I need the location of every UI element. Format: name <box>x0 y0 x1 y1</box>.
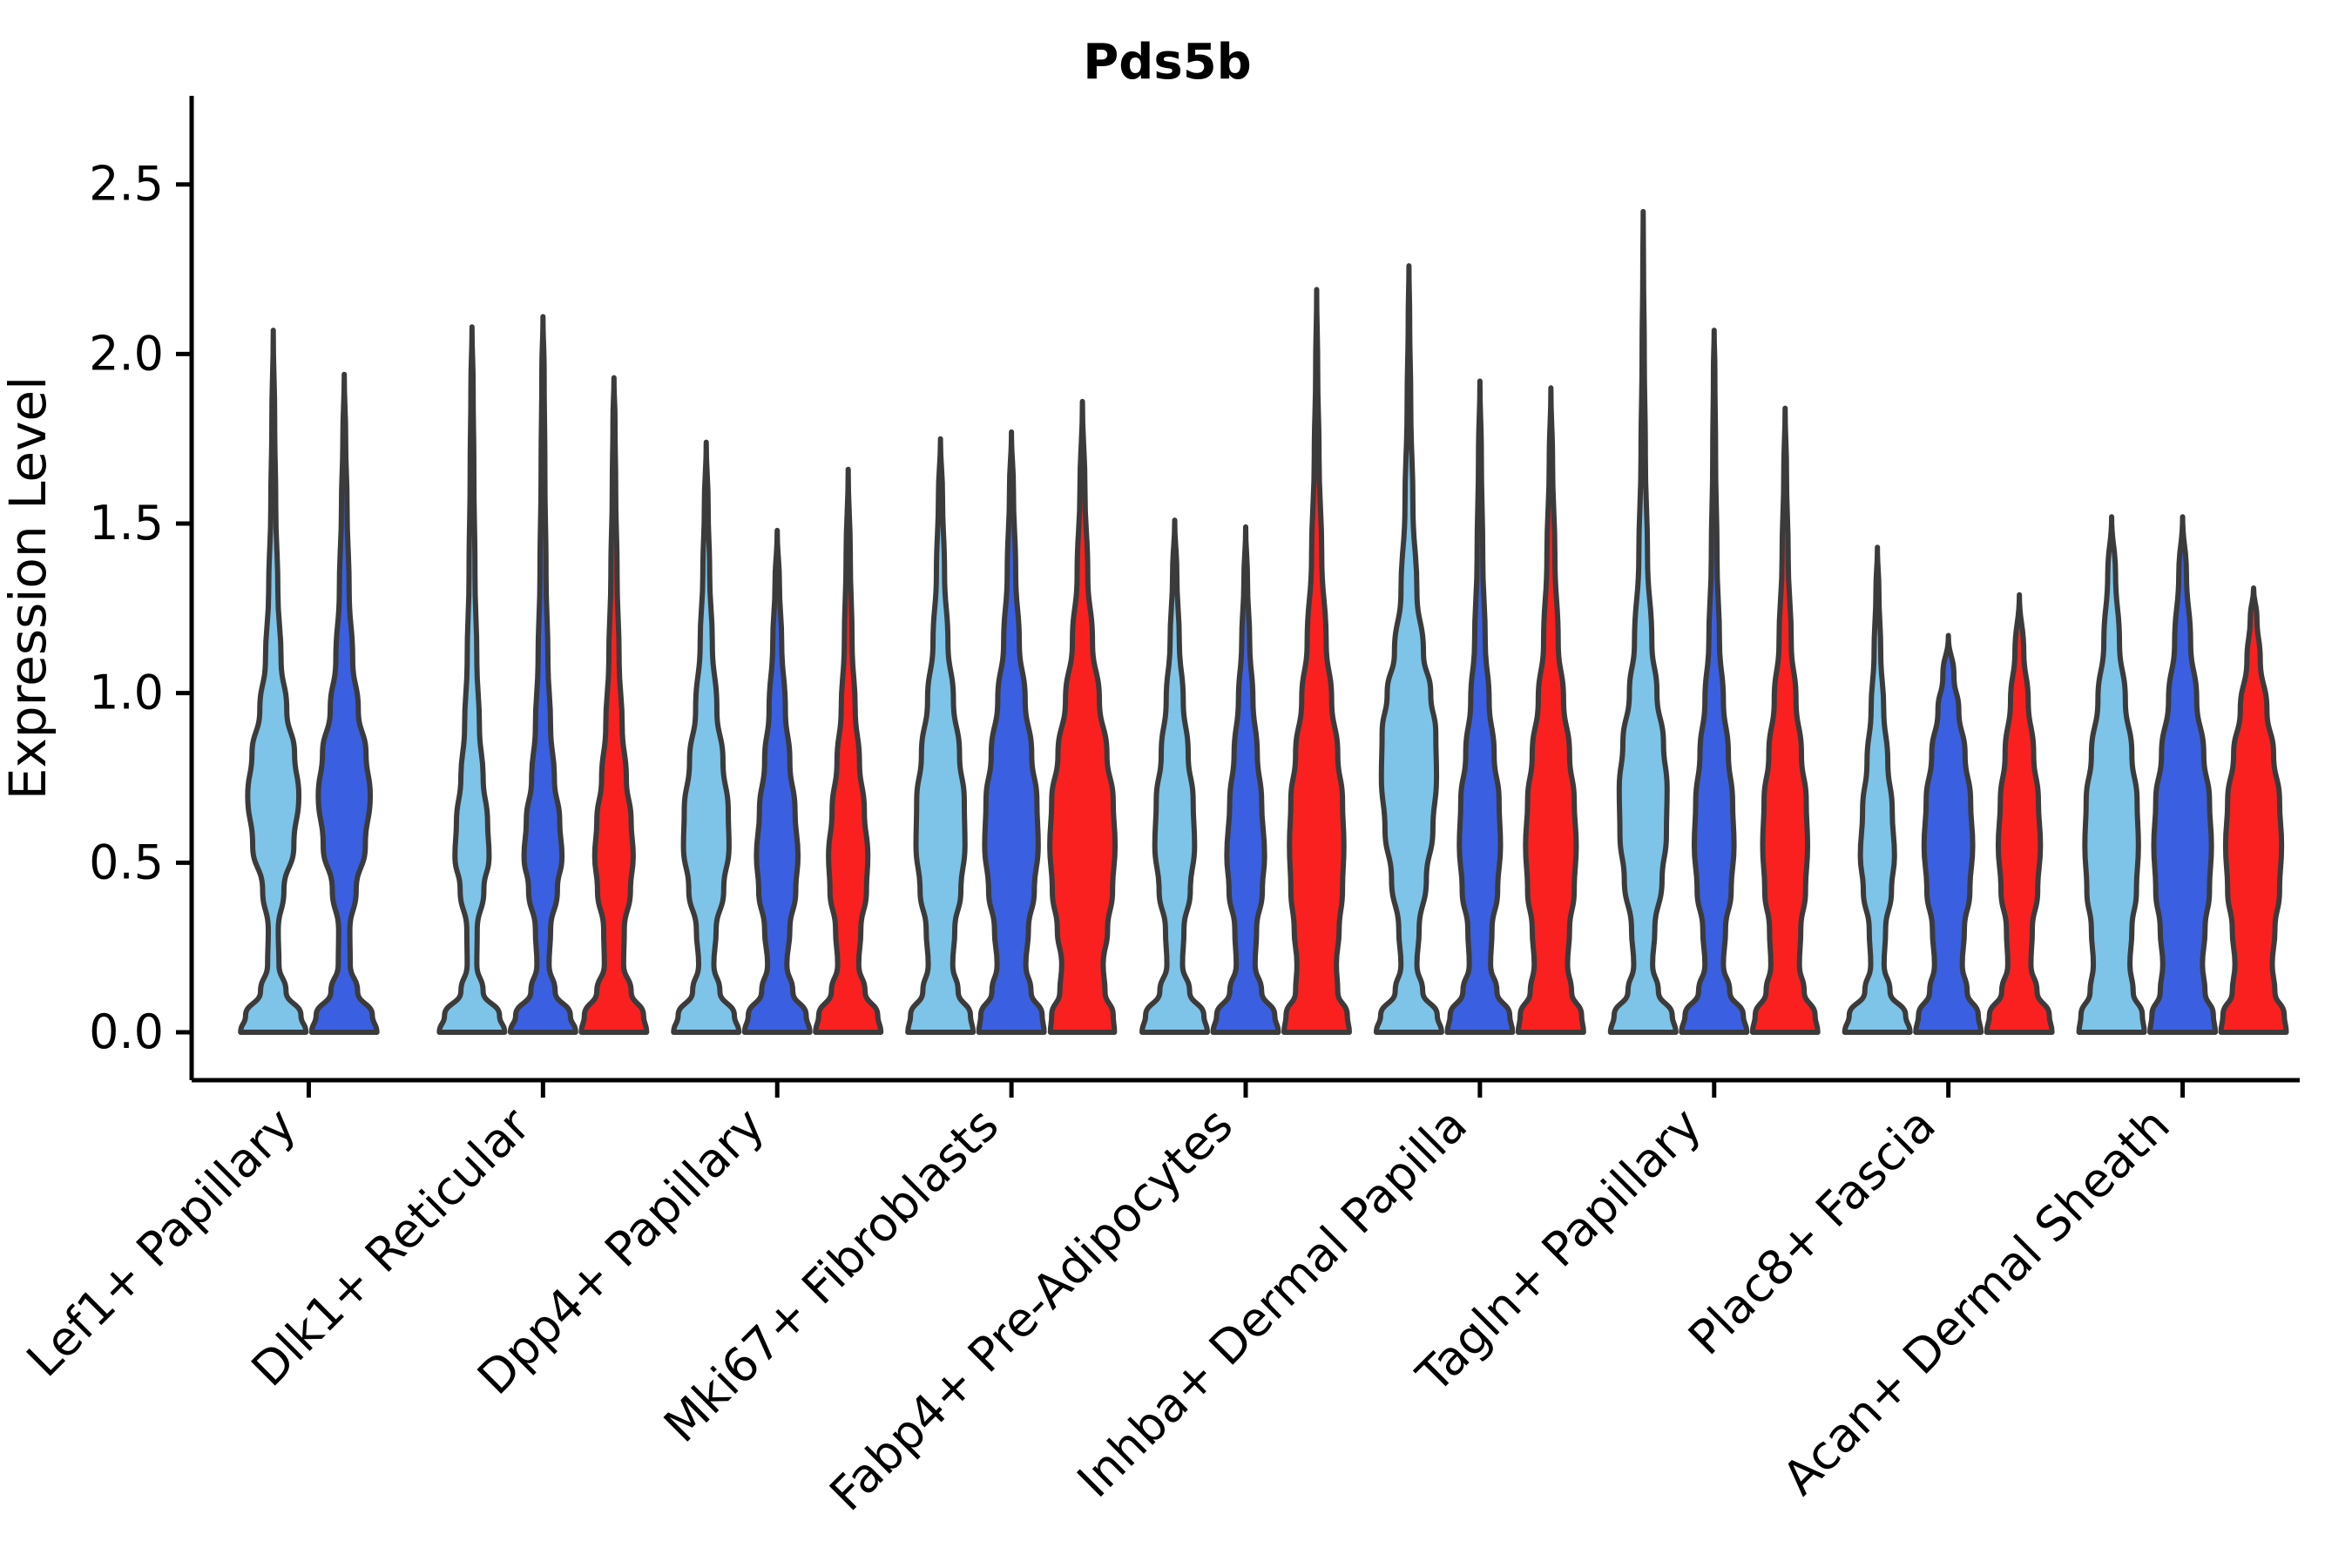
y-axis-label: Expression Level <box>0 376 57 800</box>
violin-shape[interactable] <box>1987 595 2052 1032</box>
y-tick-label: 2.0 <box>89 326 164 381</box>
violin-shape[interactable] <box>2150 517 2215 1032</box>
violin-shape[interactable] <box>1611 212 1676 1032</box>
violin-shape[interactable] <box>1845 547 1910 1032</box>
violin-shape[interactable] <box>1284 289 1349 1032</box>
violin-shape[interactable] <box>581 378 646 1032</box>
violin-shape[interactable] <box>312 375 377 1032</box>
violin-plot-svg: Pds5b0.00.51.01.52.02.5Expression LevelL… <box>0 0 2352 1568</box>
violin-shape[interactable] <box>510 317 576 1032</box>
x-tick-label: Fabp4+ Pre-Adipocytes <box>819 1098 1243 1522</box>
figure-root: Pds5b0.00.51.01.52.02.5Expression LevelL… <box>0 0 2352 1568</box>
violin-shape[interactable] <box>1916 636 1981 1033</box>
y-tick-label: 0.0 <box>89 1004 164 1059</box>
violin-shape[interactable] <box>1142 520 1207 1032</box>
x-tick-label: Inhba+ Dermal Papilla <box>1067 1098 1477 1508</box>
violin-shape[interactable] <box>240 330 306 1032</box>
violin-shape[interactable] <box>815 470 881 1032</box>
violin-shape[interactable] <box>908 439 973 1032</box>
y-tick-label: 2.5 <box>89 157 164 212</box>
violin-shape[interactable] <box>979 432 1044 1032</box>
page-title: Pds5b <box>1083 34 1252 91</box>
violin-shape[interactable] <box>1753 409 1818 1032</box>
x-tick-label: Plac8+ Fascia <box>1678 1098 1946 1366</box>
violin-shape[interactable] <box>673 443 739 1032</box>
y-tick-label: 1.0 <box>89 666 164 720</box>
violin-shape[interactable] <box>1376 266 1442 1032</box>
violin-shape[interactable] <box>2221 588 2287 1032</box>
violin-shape[interactable] <box>1447 382 1512 1032</box>
y-tick-label: 0.5 <box>89 835 164 889</box>
x-tick-label: Acan+ Dermal Sheath <box>1772 1098 2180 1505</box>
violin-shape[interactable] <box>1213 527 1279 1032</box>
violin-shape[interactable] <box>1518 388 1584 1032</box>
violin-shape[interactable] <box>439 327 504 1032</box>
violin-shape[interactable] <box>745 531 810 1032</box>
y-tick-label: 1.5 <box>89 496 164 551</box>
violin-shape[interactable] <box>1681 330 1747 1032</box>
violin-shape[interactable] <box>2079 517 2145 1032</box>
violin-shape[interactable] <box>1050 402 1115 1032</box>
